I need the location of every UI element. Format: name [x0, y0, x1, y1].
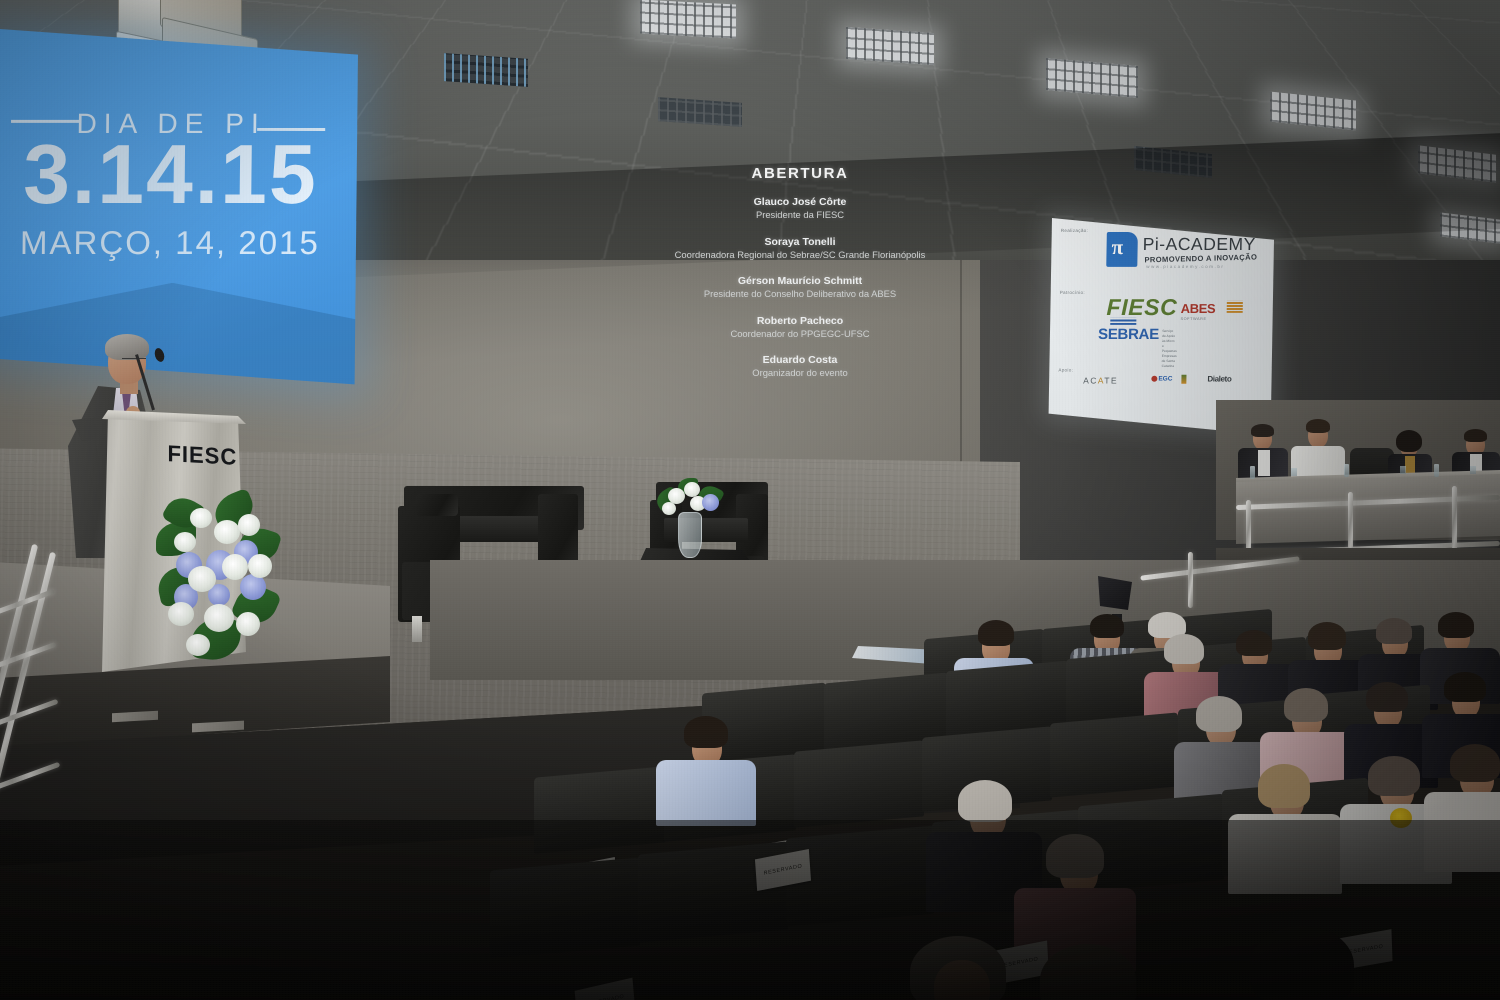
abertura-speaker-entry: Glauco José Côrte Presidente da FIESC [640, 195, 960, 222]
person-hair [1258, 764, 1310, 808]
person-hair [1236, 630, 1272, 656]
pi-academy-tagline: PROMOVENDO A INOVAÇÃO [1144, 253, 1257, 265]
reserved-sign: RESERVADO [575, 978, 636, 1000]
podium-brand-label: FIESC [167, 440, 237, 471]
person-hair [1090, 614, 1124, 638]
drinking-glass [1470, 466, 1476, 474]
auditorium-photo: DIA DE PI 3.14.15 MARÇO, 14, 2015 ABERTU… [0, 0, 1500, 1000]
water-bottle [1344, 464, 1349, 477]
flower-corsage [1390, 808, 1412, 828]
pi-day-date-text: MARÇO, 14, 2015 [0, 224, 356, 262]
sebrae-wordmark: SEBRAE [1098, 326, 1159, 343]
person-hair [1450, 744, 1500, 782]
pi-academy-url: www.piacademy.com.br [1146, 264, 1224, 269]
label-patrocinio: Patrocínio: [1060, 290, 1085, 295]
stage-sofa-leg [412, 616, 422, 642]
sponsor-logo-sebrae: SEBRAE Serviço de Apoio às Micro e Peque… [1098, 326, 1159, 344]
hydrangea-bloom [240, 574, 266, 600]
louver-grille [640, 0, 736, 39]
supporter-logo-acate: ACATE [1083, 376, 1118, 386]
flower-arrangement-podium [152, 492, 280, 668]
speaker-name: Soraya Tonelli [640, 235, 960, 249]
person-hair [1366, 682, 1408, 712]
water-bottle [1250, 466, 1255, 479]
ceiling-light-fixture [640, 0, 736, 39]
pi-glyph: π [1111, 238, 1132, 263]
seat [534, 766, 666, 854]
lily-bloom [236, 612, 260, 636]
person-hair [1284, 688, 1328, 722]
pi-academy-logo: π Pi-ACADEMY PROMOVENDO A INOVAÇÃO www.p… [1106, 232, 1265, 276]
flower-arrangement-table [656, 478, 722, 524]
egc-dot-icon [1151, 376, 1157, 382]
abertura-speaker-entry: Gérson Maurício Schmitt Presidente do Co… [640, 274, 960, 301]
lily-bloom [174, 532, 196, 552]
egc-bar-icon [1181, 375, 1186, 384]
pi-symbol-icon: π [1106, 232, 1138, 267]
person-hair [1250, 926, 1354, 1000]
speaker-name: Gérson Maurício Schmitt [640, 274, 960, 288]
lily-bloom [238, 514, 260, 536]
seat [490, 857, 640, 958]
label-apoio: Apoio: [1058, 368, 1073, 373]
speaker-role: Presidente da FIESC [640, 209, 960, 221]
drinking-glass [1400, 466, 1406, 474]
abertura-title: ABERTURA [640, 165, 960, 182]
seat [794, 740, 924, 827]
sebrae-bars-icon [1110, 318, 1136, 325]
louver-grille [846, 27, 934, 65]
speaker-hair [105, 334, 149, 360]
abertura-speaker-entry: Eduardo Costa Organizador do evento [640, 353, 960, 380]
person-hair [1464, 429, 1487, 442]
supporters-row: ACATE EGC Dialeto [1083, 374, 1254, 390]
supporter-logo-dialeto: Dialeto [1207, 375, 1231, 384]
person-torso [656, 760, 756, 826]
speaker-role: Coordenadora Regional do Sebrae/SC Grand… [640, 249, 960, 261]
seat [1078, 794, 1224, 893]
person-shirt [1258, 450, 1270, 476]
person-hair [1046, 834, 1104, 878]
person-hair [958, 780, 1012, 822]
head-table-surface [1236, 474, 1500, 544]
railing-post [1188, 552, 1193, 608]
lily-bloom [248, 554, 272, 578]
speaker-role: Coordenador do PPGEGC-UFSC [640, 328, 960, 340]
sponsor-logo-abes: ABES SOFTWARE [1180, 300, 1215, 321]
abertura-speaker-entry: Roberto Pacheco Coordenador do PPGEGC-UF… [640, 314, 960, 341]
person-hair [1444, 672, 1486, 702]
speaker-role: Presidente do Conselho Deliberativo da A… [640, 288, 960, 300]
projection-screen-left: DIA DE PI 3.14.15 MARÇO, 14, 2015 [0, 28, 358, 384]
person-torso [1424, 792, 1500, 872]
glasses-icon [122, 358, 146, 364]
speaker-name: Roberto Pacheco [640, 314, 960, 328]
pi-academy-wordmark: Pi-ACADEMY [1143, 234, 1256, 255]
louver-grille [444, 53, 528, 87]
ceiling-vent-grille [444, 53, 528, 87]
sponsor-logo-fiesc: FIESC [1106, 294, 1177, 321]
speaker-name: Eduardo Costa [640, 353, 960, 367]
person-hair [1376, 618, 1412, 644]
audience-seating-area: RESERVADO RESERVADO RESERVADO [430, 596, 1500, 1000]
person-hair [1251, 424, 1274, 437]
lily-bloom [222, 554, 248, 580]
label-realizacao: Realização: [1061, 228, 1088, 233]
lily-bloom [190, 508, 212, 528]
projection-agenda-abertura: ABERTURA Glauco José Côrte Presidente da… [640, 165, 960, 430]
lily-bloom [684, 482, 700, 497]
sebrae-subtitle: Serviço de Apoio às Micro e Pequenas Emp… [1162, 329, 1178, 368]
person-torso [1228, 814, 1342, 894]
lily-bloom [186, 634, 210, 656]
person-hair [1196, 696, 1242, 732]
abes-wordmark: ABES [1181, 301, 1216, 316]
person-hair [1308, 622, 1346, 650]
person-hair [1438, 612, 1474, 638]
ceiling-light-fixture [846, 27, 934, 65]
hydrangea-bloom [702, 494, 719, 511]
water-bottle [1434, 464, 1439, 477]
supporter-logo-egc: EGC [1151, 376, 1172, 383]
abes-bars-icon [1227, 301, 1243, 313]
person-hair [1396, 430, 1422, 452]
person-hair [1368, 756, 1420, 796]
abertura-speaker-entry: Soraya Tonelli Coordenadora Regional do … [640, 235, 960, 262]
person-hair [684, 716, 728, 748]
egc-wordmark: EGC [1158, 376, 1172, 383]
stage-sofa-cushion [416, 494, 458, 516]
drinking-glass [1291, 468, 1297, 476]
speaker-name: Glauco José Côrte [640, 195, 960, 209]
lily-bloom [204, 604, 234, 632]
speaker-role: Organizador do evento [640, 367, 960, 379]
seat [1050, 712, 1178, 797]
person-hair [1164, 634, 1204, 664]
lily-bloom [662, 502, 676, 515]
pi-day-date-numeric: 3.14.15 [0, 132, 357, 216]
person-hair [978, 620, 1014, 646]
lily-bloom [188, 566, 216, 592]
lily-bloom [214, 520, 240, 544]
acate-accent-glyph: A [1098, 376, 1105, 386]
person-hair [1306, 419, 1330, 433]
lily-bloom [168, 602, 194, 626]
